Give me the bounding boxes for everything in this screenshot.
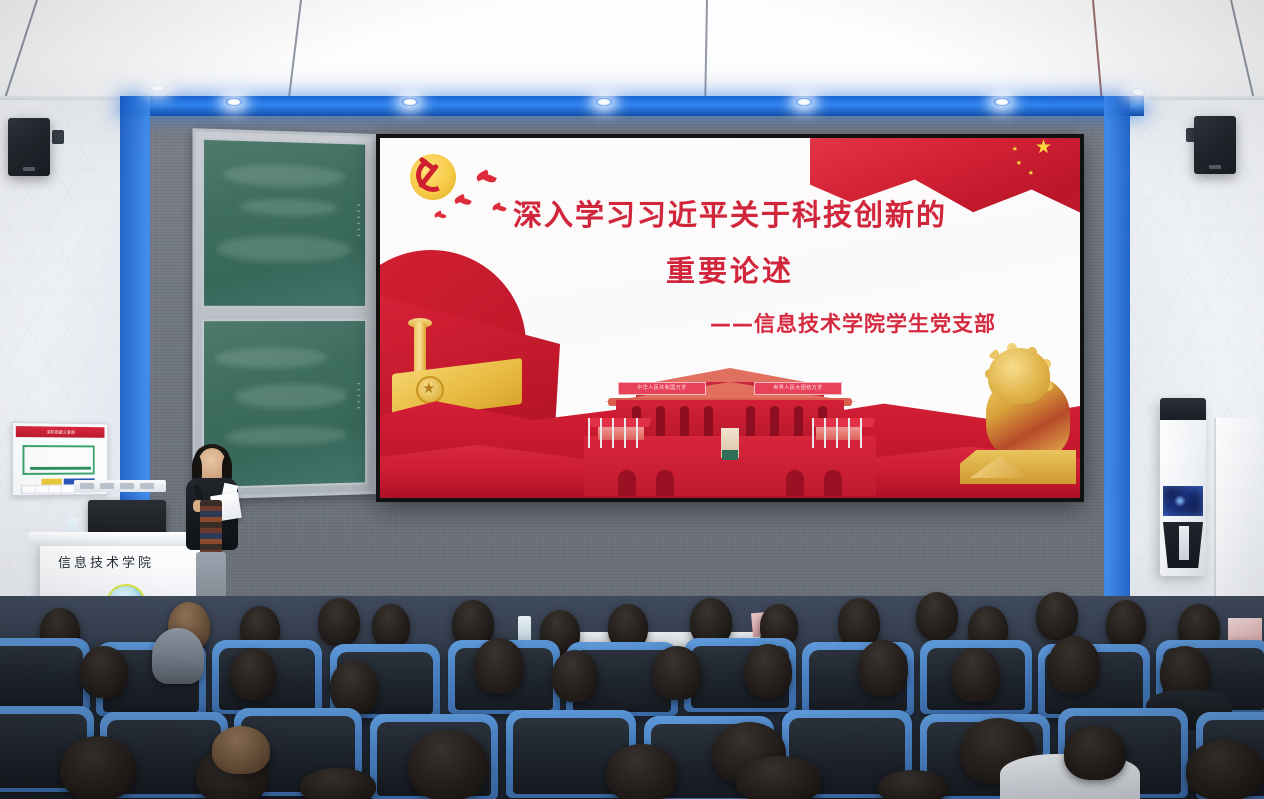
audience-head: [838, 598, 880, 648]
ceiling-downlight: [402, 98, 418, 106]
audience-head: [652, 646, 702, 700]
guardian-lion-graphic: [958, 334, 1076, 484]
audience-head-front: [878, 770, 948, 799]
poster-title: 消防疏散示意图: [16, 426, 105, 438]
ceiling-downlight: [596, 98, 612, 106]
audience-head-front: [300, 768, 376, 799]
audience-head: [230, 648, 276, 700]
auditorium-seat[interactable]: [0, 638, 90, 712]
control-desk-strip: [74, 480, 166, 492]
auditorium-photo: ★ ★ ★ ★ ★: [0, 0, 1264, 799]
slide-subtitle: ——信息技术学院学生党支部: [710, 308, 996, 338]
gate-banner-right: 世界人民大团结万岁: [754, 382, 842, 395]
audience-head-front: [606, 744, 678, 799]
audience-head: [858, 640, 908, 696]
led-cove-strip: [120, 96, 1144, 116]
audience-head: [1036, 592, 1078, 640]
blackboard-panel-top: [202, 138, 367, 308]
ceiling-downlight: [226, 98, 242, 106]
led-cove-right: [1104, 96, 1130, 616]
cup: [518, 616, 531, 642]
wall-speaker-left: [8, 118, 50, 176]
audience-head: [1106, 600, 1146, 648]
ceiling-downlight: [150, 84, 166, 92]
audience-head-front: [60, 736, 136, 799]
wall-speaker-right: [1194, 116, 1236, 174]
audience-head: [372, 604, 410, 648]
led-display-screen[interactable]: ★ ★ ★ ★ ★: [376, 134, 1084, 502]
presenter: [182, 448, 242, 608]
audience-head-front: [736, 756, 822, 799]
flag-row-left: [586, 414, 650, 448]
audience-head-beanie: [152, 628, 204, 684]
speaker-bracket: [52, 130, 64, 144]
terminal-display: [1163, 486, 1203, 516]
audience-head: [952, 648, 1000, 702]
audience-head: [330, 660, 378, 714]
audience-head: [916, 592, 958, 640]
ceiling-downlight: [1130, 88, 1146, 96]
audience-head-front: [1064, 726, 1126, 780]
audience-head: [1048, 636, 1100, 694]
flag-row-right: [810, 414, 874, 448]
podium-label: 信息技术学院: [58, 552, 154, 571]
audience-head-front: [212, 726, 270, 774]
ceiling-downlight: [796, 98, 812, 106]
slide-title-line2: 重要论述: [380, 248, 1080, 290]
audience-head: [474, 638, 524, 694]
slide-title-line1: 深入学习习近平关于科技创新的: [380, 192, 1080, 234]
audience-head: [552, 650, 598, 702]
audience-head: [744, 644, 792, 698]
terminal-vent: [1163, 522, 1203, 568]
tiananmen-gate-graphic: 中华人民共和国万岁 世界人民大团结万岁: [570, 368, 890, 496]
side-door[interactable]: [1214, 418, 1260, 606]
wall-mounted-terminal[interactable]: [1160, 398, 1206, 576]
audience-head-front: [1186, 740, 1264, 799]
blackboard: [192, 128, 376, 500]
audience-head: [318, 598, 360, 646]
audience-head: [80, 646, 128, 698]
audience-head-front: [408, 730, 488, 799]
ceiling-downlight: [994, 98, 1010, 106]
gate-banner-left: 中华人民共和国万岁: [618, 382, 706, 395]
presentation-slide: ★ ★ ★ ★ ★: [380, 138, 1080, 498]
ceiling: [0, 0, 1264, 108]
